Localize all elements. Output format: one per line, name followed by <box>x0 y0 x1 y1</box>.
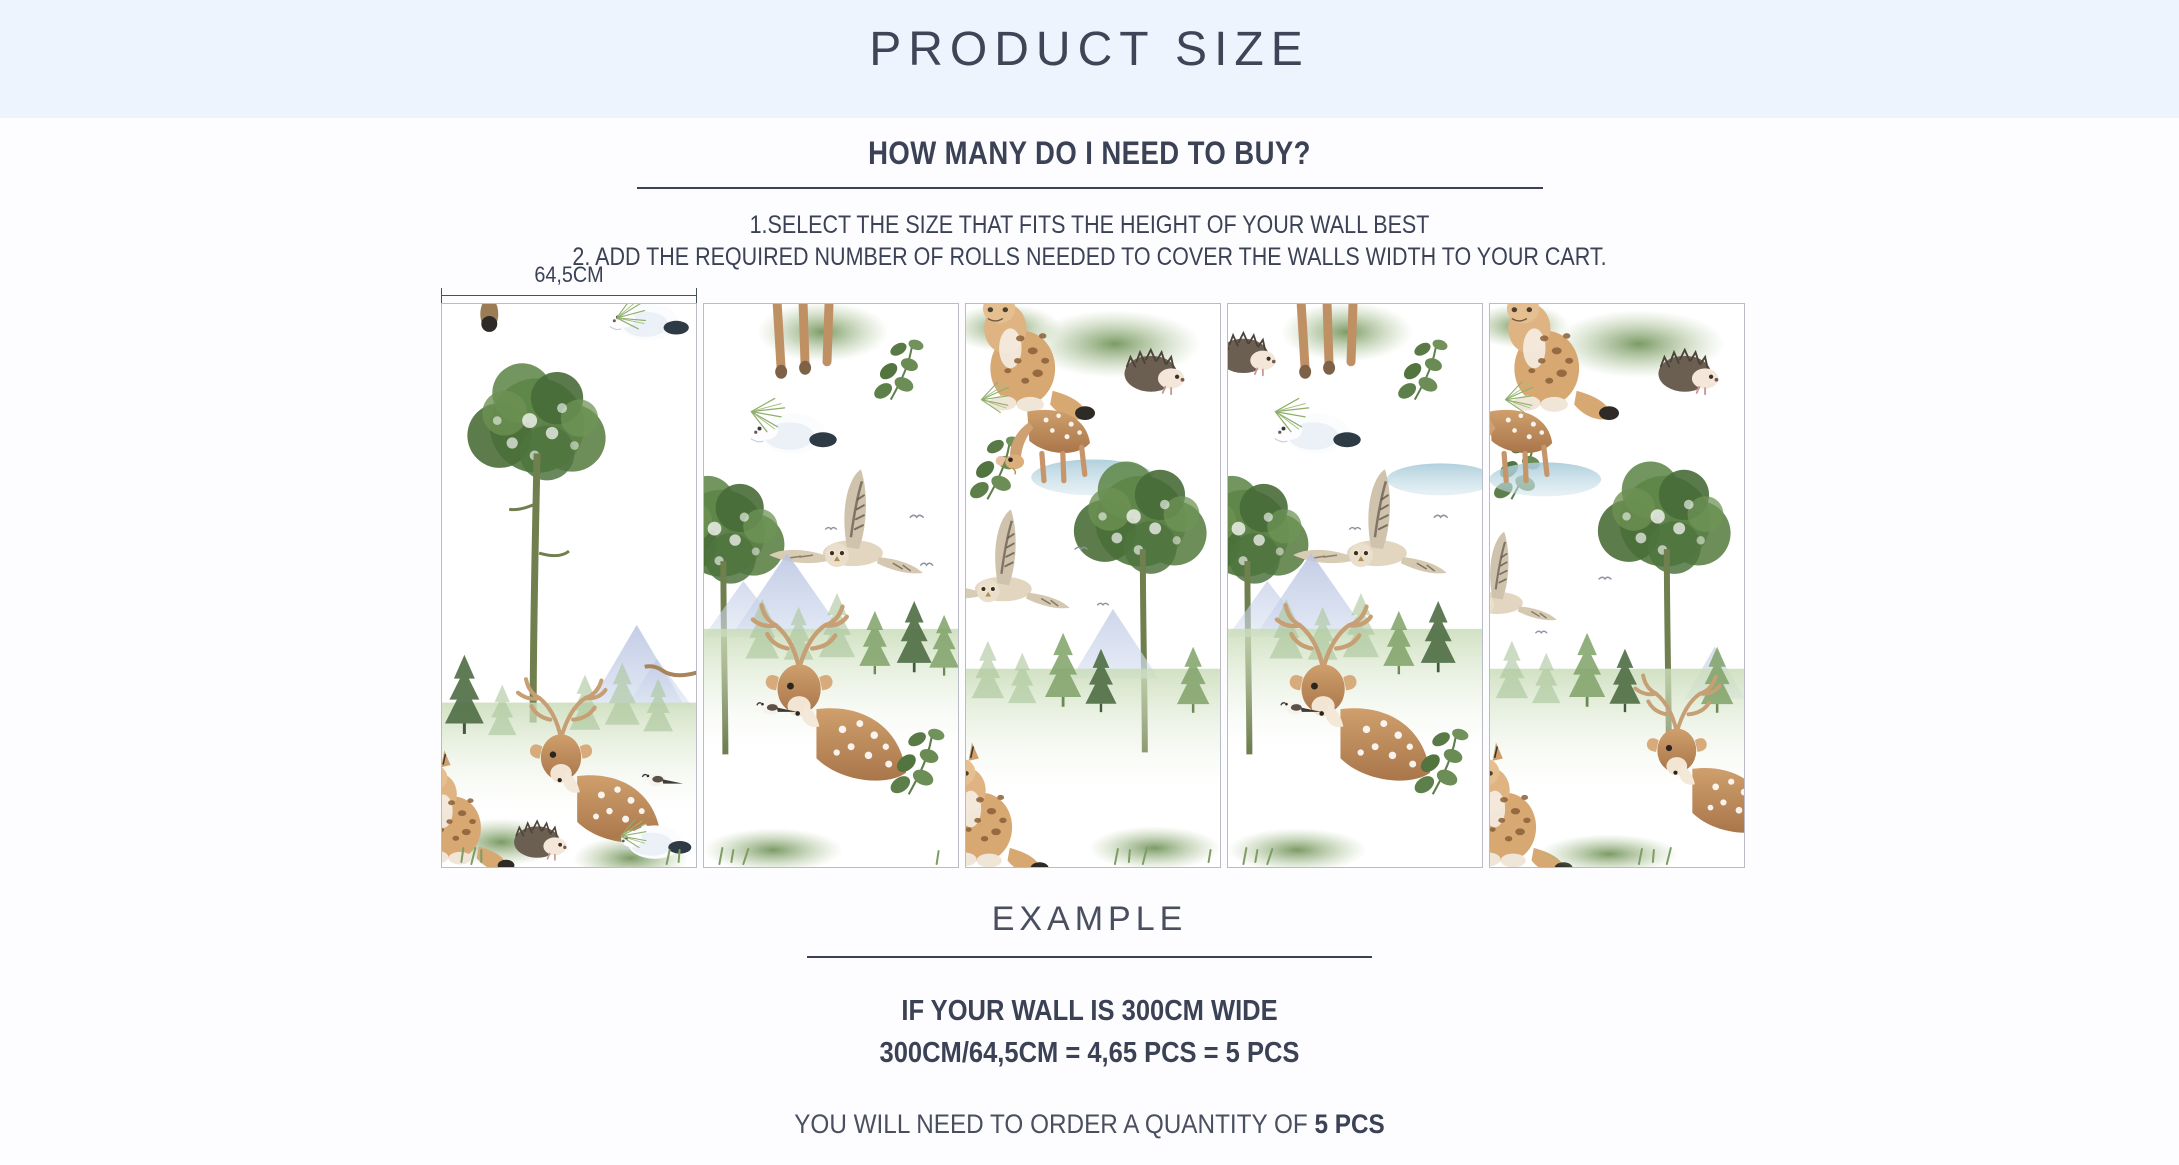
intro-section: HOW MANY DO I NEED TO BUY? 1.SELECT THE … <box>0 133 2179 273</box>
example-summary-prefix: YOU WILL NEED TO ORDER A QUANTITY OF <box>794 1109 1314 1139</box>
wallpaper-panel[interactable] <box>703 303 959 868</box>
example-line-1: IF YOUR WALL IS 300CM WIDE <box>131 990 2049 1032</box>
step-item-2: 2. ADD THE REQUIRED NUMBER OF ROLLS NEED… <box>153 241 2027 273</box>
example-calculation: IF YOUR WALL IS 300CM WIDE 300CM/64,5CM … <box>0 990 2179 1074</box>
example-line-2: 300CM/64,5CM = 4,65 PCS = 5 PCS <box>131 1032 2049 1074</box>
example-summary-value: 5 PCS <box>1315 1109 1385 1139</box>
dimension-cap-right <box>696 288 697 303</box>
intro-divider <box>637 187 1543 189</box>
example-heading: EXAMPLE <box>0 898 2179 940</box>
intro-heading: HOW MANY DO I NEED TO BUY? <box>153 133 2027 173</box>
example-section: EXAMPLE IF YOUR WALL IS 300CM WIDE 300CM… <box>0 898 2179 1142</box>
wallpaper-panel[interactable] <box>1489 303 1745 868</box>
example-divider <box>807 956 1372 958</box>
woodland-pattern-art <box>442 304 696 867</box>
woodland-pattern-art <box>1490 304 1744 867</box>
dimension-line <box>441 295 697 296</box>
example-summary: YOU WILL NEED TO ORDER A QUANTITY OF 5 P… <box>109 1106 2070 1142</box>
steps-list: 1.SELECT THE SIZE THAT FITS THE HEIGHT O… <box>0 209 2179 273</box>
woodland-pattern-art <box>1228 304 1482 867</box>
page-title: PRODUCT SIZE <box>0 22 2179 78</box>
wallpaper-panel[interactable] <box>441 303 697 868</box>
dimension-cap-left <box>441 288 442 303</box>
wallpaper-panel[interactable] <box>1227 303 1483 868</box>
wallpaper-panel-strip <box>441 303 1745 868</box>
wallpaper-panel[interactable] <box>965 303 1221 868</box>
woodland-pattern-art <box>966 304 1220 867</box>
step-item-1: 1.SELECT THE SIZE THAT FITS THE HEIGHT O… <box>153 209 2027 241</box>
woodland-pattern-art <box>704 304 958 867</box>
dimension-label: 64,5CM <box>454 262 684 288</box>
